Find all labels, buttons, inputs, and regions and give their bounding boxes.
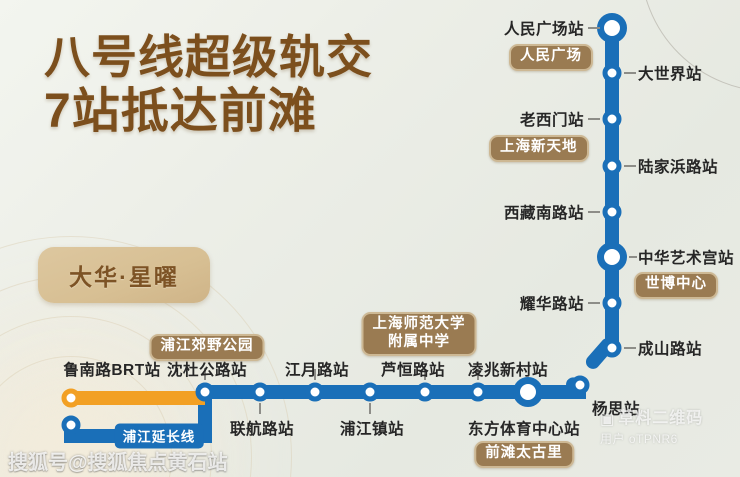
station-dot-dongfang-tiyu-zhongxin[interactable] [513, 377, 543, 407]
station-label-zhonghua-art: 中华艺术宫站 [638, 246, 734, 268]
station-dot-branch-terminus[interactable] [62, 416, 81, 435]
watermark-qr: ▣草料二维码 用户 oTPNR6 [600, 404, 703, 447]
station-dot-lujiabang[interactable] [603, 157, 622, 176]
headline-line-2: 7站抵达前滩 [44, 88, 373, 137]
station-dot-lianhanglu[interactable] [251, 383, 270, 402]
station-dot-pujiangzhen[interactable] [361, 383, 380, 402]
station-dot-jiangyuelu[interactable] [306, 383, 325, 402]
station-label-xizangnanlu: 西藏南路站 [504, 201, 584, 223]
poi-badge-pujiang-jiaoye-gongyuan: 浦江郊野公园 [150, 334, 265, 361]
station-label-chengshanlu: 成山路站 [638, 337, 702, 359]
leader-tick-pujiangzhen [369, 403, 371, 414]
watermark-qr-line-2: 用户 oTPNR6 [600, 430, 703, 447]
poi-badge-line-1: 上海师范大学 [373, 316, 466, 334]
leader-tick-zhonghua-art [629, 256, 637, 258]
station-label-dongfang-tiyu-zhongxin: 东方体育中心站 [468, 417, 580, 439]
leader-tick-yaohualu [588, 302, 600, 304]
station-dot-chengshanlu[interactable] [603, 339, 622, 358]
station-dot-lingzhao-xincun[interactable] [469, 383, 488, 402]
watermark-sohu: 搜狐号@搜狐焦点黄石站 [8, 446, 228, 475]
branch-line-label: 浦江延长线 [115, 424, 204, 449]
poster-headline: 八号线超级轨交 7站抵达前滩 [44, 34, 373, 137]
station-dot-laoximen[interactable] [603, 110, 622, 129]
station-label-renmin-guangchang: 人民广场站 [504, 17, 584, 39]
station-label-lingzhao-xincun: 凌兆新村站 [468, 358, 548, 380]
leader-tick-laoximen [588, 118, 600, 120]
leader-tick-lianhanglu [259, 403, 261, 414]
leader-tick-dashijie [624, 72, 636, 74]
brand-plate: 大华·星曜 [38, 247, 210, 303]
station-label-lunanlu-brt: 鲁南路BRT站 [63, 358, 160, 380]
station-dot-renmin-guangchang[interactable] [597, 13, 627, 43]
station-dot-lunanlu-brt[interactable] [62, 389, 81, 408]
station-label-pujiangzhen: 浦江镇站 [340, 417, 404, 439]
station-label-dashijie: 大世界站 [638, 62, 702, 84]
leader-tick-lujiabang [624, 165, 636, 167]
metro-map-poster: 八号线超级轨交 7站抵达前滩 大华·星曜 人民广场站 人民广场 大世界站 老西门… [0, 0, 740, 477]
station-dot-zhonghua-art[interactable] [597, 242, 627, 272]
line-segment-brt [71, 391, 205, 405]
station-label-jiangyuelu: 江月路站 [285, 358, 349, 380]
station-dot-xizangnanlu[interactable] [603, 203, 622, 222]
poi-badge-shanghai-shifan-fuzhong: 上海师范大学 附属中学 [362, 312, 477, 356]
station-dot-yaohualu[interactable] [603, 294, 622, 313]
poi-badge-renmin-guangchang: 人民广场 [509, 44, 593, 71]
station-dot-dashijie[interactable] [603, 64, 622, 83]
station-label-yaohualu: 耀华路站 [520, 292, 584, 314]
station-label-shendu-gonglu: 沈杜公路站 [167, 358, 247, 380]
watermark-qr-line-1: ▣草料二维码 [600, 404, 703, 428]
station-dot-yangsi[interactable] [571, 376, 590, 395]
station-dot-luhenglu[interactable] [416, 383, 435, 402]
station-label-lianhanglu: 联航路站 [230, 417, 294, 439]
brand-name: 大华·星曜 [69, 258, 179, 292]
qr-code-icon: ▣ [600, 410, 615, 428]
station-label-laoximen: 老西门站 [520, 108, 584, 130]
poi-badge-shibo-zhongxin: 世博中心 [634, 272, 718, 299]
station-label-lujiabang: 陆家浜路站 [638, 155, 718, 177]
watermark-qr-text: 草料二维码 [618, 410, 703, 427]
poi-badge-qiantan-taikooli: 前滩太古里 [474, 441, 574, 468]
poi-badge-xintiandi: 上海新天地 [489, 135, 589, 162]
leader-tick-renmin [588, 27, 600, 29]
leader-tick-xizangnanlu [588, 211, 600, 213]
headline-line-1: 八号线超级轨交 [44, 34, 373, 81]
leader-tick-chengshanlu [624, 347, 636, 349]
station-dot-shendu-gonglu[interactable] [196, 383, 215, 402]
station-label-luhenglu: 芦恒路站 [381, 358, 445, 380]
poi-badge-line-2: 附属中学 [373, 334, 466, 352]
